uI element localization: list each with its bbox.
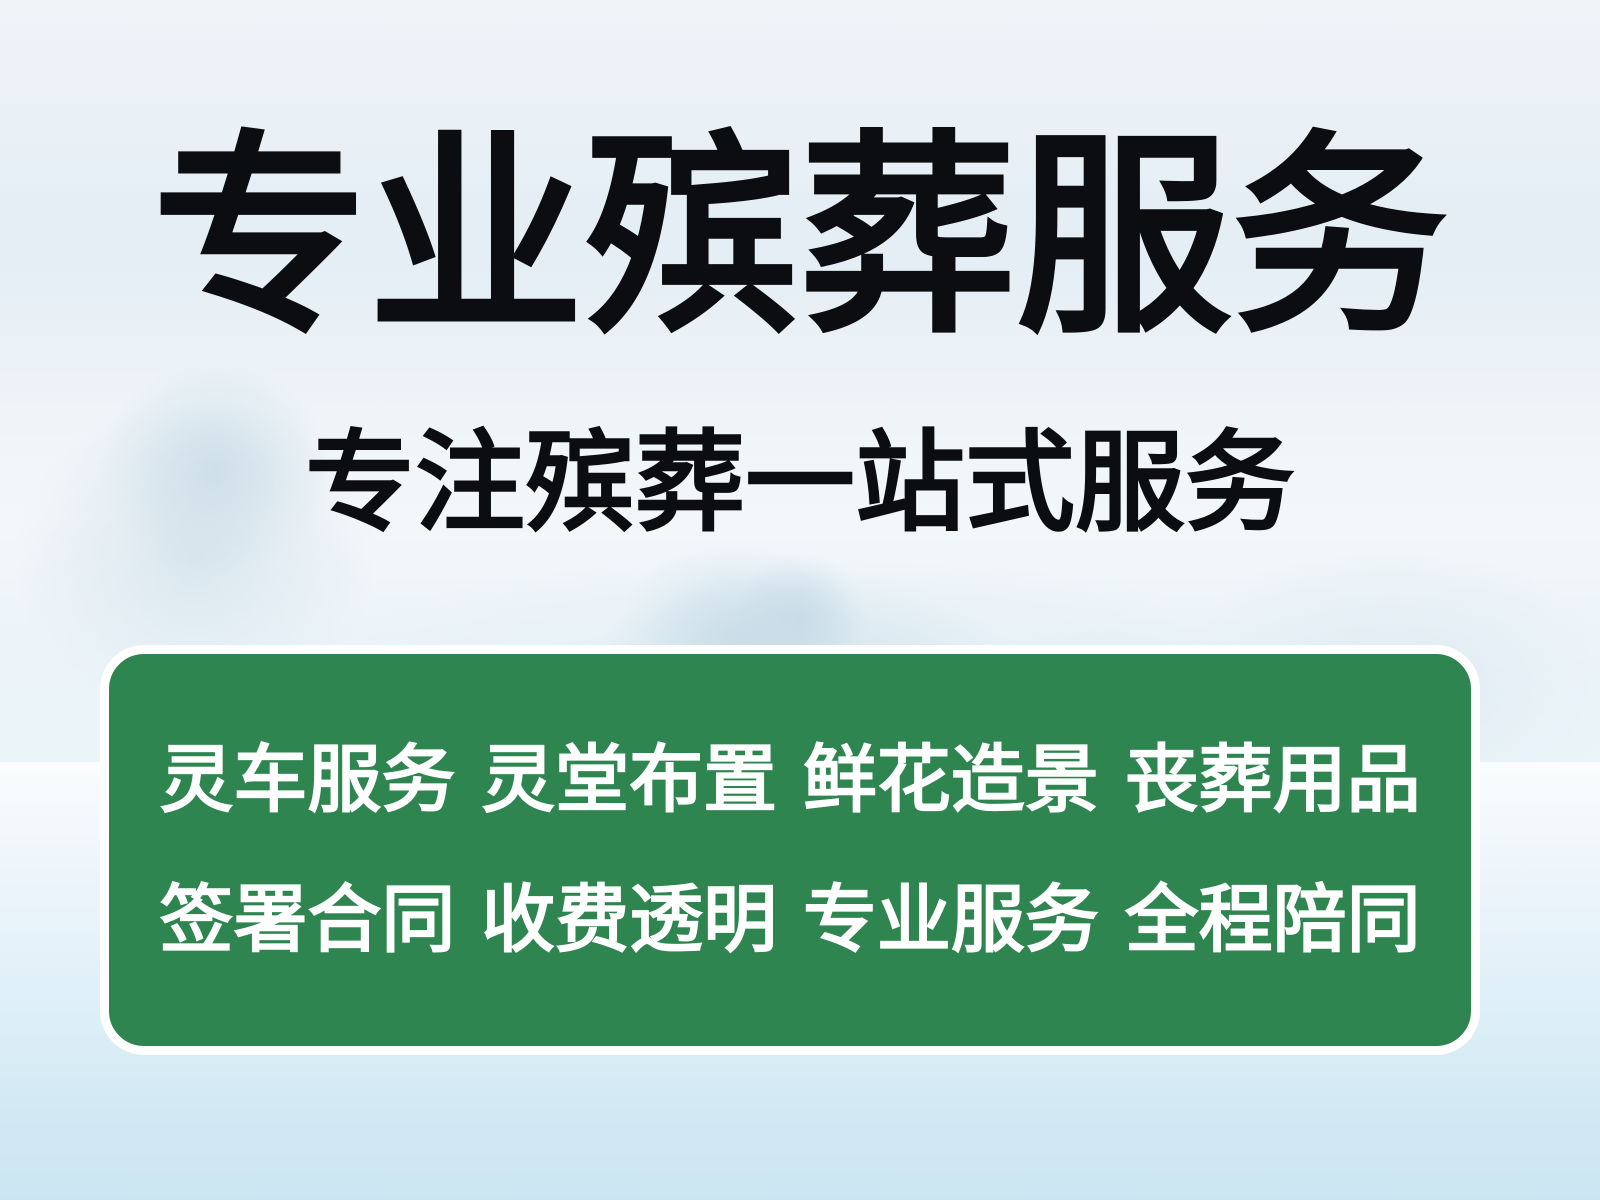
poster-canvas: 专业殡葬服务 专注殡葬一站式服务 灵车服务 灵堂布置 鲜花造景 丧葬用品 签署合…: [0, 0, 1600, 1200]
services-row-1: 灵车服务 灵堂布置 鲜花造景 丧葬用品: [159, 743, 1420, 817]
services-panel: 灵车服务 灵堂布置 鲜花造景 丧葬用品 签署合同 收费透明 专业服务 全程陪同: [100, 645, 1480, 1055]
page-title: 专业殡葬服务: [0, 128, 1600, 344]
page-subtitle: 专注殡葬一站式服务: [0, 428, 1600, 538]
services-row-2: 签署合同 收费透明 专业服务 全程陪同: [159, 883, 1420, 957]
